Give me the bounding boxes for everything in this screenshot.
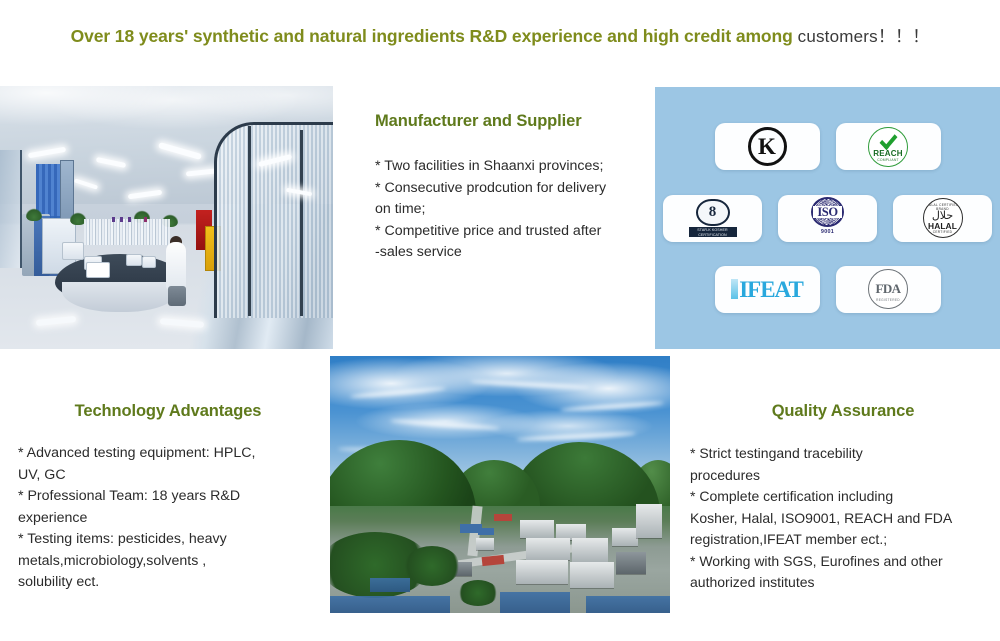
building-block bbox=[612, 528, 638, 546]
kosher-registered-badge-card[interactable]: 8 STAR-K KOSHER CERTIFICATION bbox=[663, 195, 762, 242]
lab-bottle-cap bbox=[128, 217, 131, 222]
red-roof bbox=[494, 514, 512, 521]
kosher-badge-card[interactable]: K bbox=[715, 123, 820, 170]
kosher-registered-sub: STAR-K KOSHER CERTIFICATION bbox=[689, 227, 737, 237]
manufacturer-title: Manufacturer and Supplier bbox=[375, 112, 650, 131]
vegetation bbox=[458, 580, 498, 606]
building-block bbox=[520, 520, 554, 538]
fda-badge-sub: REGISTERED bbox=[876, 298, 900, 302]
lab-glass-frame bbox=[300, 130, 303, 316]
page-headline: Over 18 years' synthetic and natural ing… bbox=[0, 22, 1000, 52]
halal-badge-sub-top: HALAL CERTIFIED BRAND bbox=[924, 203, 962, 211]
ifeat-badge-card[interactable]: IFEAT bbox=[715, 266, 820, 313]
certifications-grid: K REACH COMPLIANT 8 STAR-K KOSHER CERTIF… bbox=[655, 87, 1000, 349]
lab-reagent-bottles bbox=[84, 219, 170, 245]
reach-icon: REACH COMPLIANT bbox=[868, 127, 908, 167]
lab-instrument bbox=[62, 242, 84, 260]
halal-badge-card[interactable]: HALAL CERTIFIED BRAND حلال HALAL CERTIFI… bbox=[893, 195, 992, 242]
certifications-row: 8 STAR-K KOSHER CERTIFICATION ISO 9001 H… bbox=[663, 195, 992, 242]
lab-technician-legs bbox=[168, 286, 186, 306]
aerial-town-photo bbox=[330, 356, 670, 613]
quality-assurance-title: Quality Assurance bbox=[690, 402, 996, 421]
certifications-panel: K REACH COMPLIANT 8 STAR-K KOSHER CERTIF… bbox=[655, 87, 1000, 349]
halal-arabic-glyph: حلال bbox=[932, 211, 953, 221]
fda-badge-card[interactable]: FDA REGISTERED bbox=[836, 266, 941, 313]
water-body bbox=[330, 596, 450, 613]
lab-instrument bbox=[126, 254, 142, 266]
building-block bbox=[476, 538, 494, 550]
lab-bottle-cap bbox=[112, 217, 115, 222]
building-block bbox=[516, 560, 568, 584]
lab-bottle-cap bbox=[144, 217, 147, 222]
kosher-registered-icon: 8 STAR-K KOSHER CERTIFICATION bbox=[684, 198, 742, 238]
kosher-icon: K bbox=[748, 127, 787, 166]
ifeat-icon: IFEAT bbox=[731, 278, 803, 301]
headline-dark-text: customers！！！ bbox=[793, 27, 930, 46]
building-block bbox=[526, 538, 570, 560]
water-body bbox=[500, 592, 570, 613]
kosher-registered-label: 8 bbox=[696, 199, 730, 226]
vegetation bbox=[404, 546, 460, 586]
quality-assurance-section: Quality Assurance * Strict testingand tr… bbox=[690, 402, 996, 594]
halal-icon: HALAL CERTIFIED BRAND حلال HALAL CERTIFI… bbox=[923, 198, 963, 238]
iso-icon: ISO 9001 bbox=[803, 197, 853, 239]
iso-badge-number: 9001 bbox=[821, 229, 834, 235]
headline-green-text: Over 18 years' synthetic and natural ing… bbox=[71, 26, 793, 46]
certifications-row: K REACH COMPLIANT bbox=[663, 123, 992, 170]
water-body bbox=[370, 578, 410, 592]
lab-technician-body bbox=[166, 242, 186, 290]
ifeat-badge-label: IFEAT bbox=[739, 278, 803, 301]
technology-title: Technology Advantages bbox=[18, 402, 318, 421]
lab-glass-frame bbox=[248, 126, 251, 316]
lab-glass-cylinder bbox=[214, 122, 333, 318]
lab-instrument bbox=[142, 256, 156, 268]
lab-bottle-cap bbox=[120, 217, 123, 222]
halal-badge-sub-bottom: CERTIFIED bbox=[924, 230, 962, 234]
lab-instrument bbox=[86, 262, 110, 278]
blue-roof bbox=[478, 528, 494, 535]
reach-badge-card[interactable]: REACH COMPLIANT bbox=[836, 123, 941, 170]
manufacturer-section: Manufacturer and Supplier * Two faciliti… bbox=[375, 112, 650, 264]
quality-assurance-body: * Strict testingand tracebility procedur… bbox=[690, 443, 996, 594]
building-block bbox=[570, 562, 614, 588]
building-block bbox=[572, 538, 608, 562]
lab-plant bbox=[26, 208, 42, 221]
iso-badge-card[interactable]: ISO 9001 bbox=[778, 195, 877, 242]
technology-body: * Advanced testing equipment: HPLC, UV, … bbox=[18, 443, 318, 594]
lab-glass-partition-left bbox=[0, 150, 22, 268]
laboratory-photo bbox=[0, 86, 333, 349]
iso-ring: ISO bbox=[811, 197, 844, 227]
building-block bbox=[636, 504, 662, 538]
reach-badge-sub: COMPLIANT bbox=[877, 158, 899, 162]
ifeat-mark bbox=[731, 279, 738, 299]
checkmark-icon bbox=[879, 130, 897, 150]
certifications-row: IFEAT FDA REGISTERED bbox=[663, 266, 992, 313]
manufacturer-body: * Two facilities in Shaanxi provinces; *… bbox=[375, 156, 650, 264]
water-body bbox=[586, 596, 670, 613]
technology-section: Technology Advantages * Advanced testing… bbox=[18, 402, 318, 594]
building-block bbox=[616, 552, 646, 574]
iso-badge-label: ISO bbox=[813, 206, 842, 218]
fda-badge-label: FDA bbox=[876, 282, 901, 295]
fda-icon: FDA REGISTERED bbox=[868, 269, 908, 309]
reach-badge-label: REACH bbox=[873, 149, 902, 158]
kosher-badge-label: K bbox=[758, 135, 776, 158]
